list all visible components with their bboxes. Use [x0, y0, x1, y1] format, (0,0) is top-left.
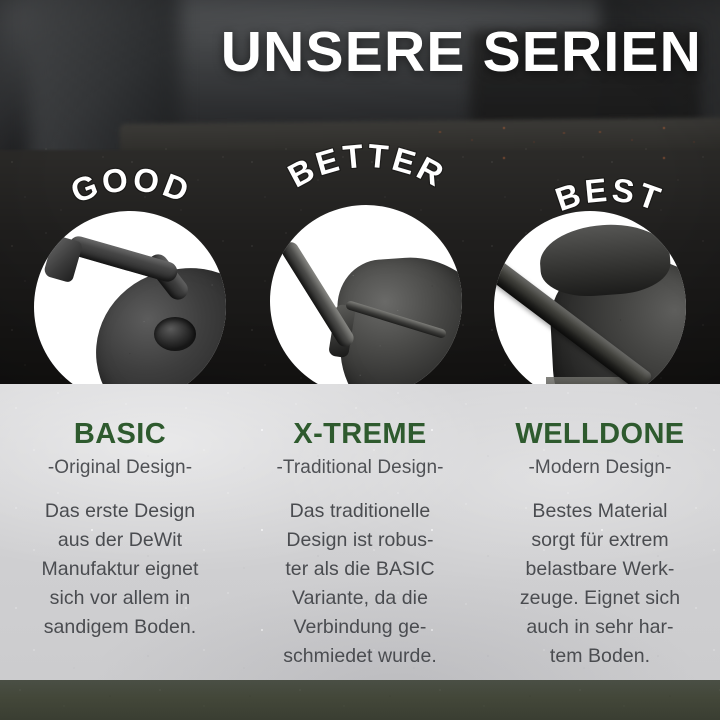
- basic-tool-illustration: [34, 211, 226, 403]
- product-subtitle-basic: -Original Design-: [12, 457, 228, 479]
- product-name-welldone: WELLDONE: [492, 418, 708, 450]
- product-description-basic: Das erste Design aus der DeWit Manufaktu…: [12, 497, 228, 642]
- svg-text:GOOD: GOOD: [66, 160, 197, 210]
- product-column-basic: BASIC -Original Design- Das erste Design…: [0, 384, 240, 720]
- product-description-xtreme: Das traditionelle Design ist robus- ter …: [252, 497, 468, 671]
- product-column-xtreme: X-TREME -Traditional Design- Das traditi…: [240, 384, 480, 720]
- product-name-basic: BASIC: [12, 418, 228, 450]
- socket-joint: [154, 317, 196, 351]
- product-image-welldone: [494, 211, 686, 403]
- badge-label-good-text: GOOD: [66, 160, 197, 210]
- product-name-xtreme: X-TREME: [252, 418, 468, 450]
- product-description-welldone: Bestes Material sorgt für extrem belastb…: [492, 497, 708, 671]
- page-title: UNSERE SERIEN: [0, 20, 720, 84]
- product-image-basic: [34, 211, 226, 403]
- product-image-xtreme: [270, 205, 462, 397]
- product-subtitle-xtreme: -Traditional Design-: [252, 457, 468, 479]
- product-columns: BASIC -Original Design- Das erste Design…: [0, 384, 720, 720]
- welldone-tool-illustration: [494, 211, 686, 403]
- product-column-welldone: WELLDONE -Modern Design- Bestes Material…: [480, 384, 720, 720]
- xtreme-tool-illustration: [270, 205, 462, 397]
- tang-upper: [66, 234, 179, 284]
- product-subtitle-welldone: -Modern Design-: [492, 457, 708, 479]
- ferrule-cap: [43, 235, 83, 284]
- product-series-poster: UNSERE SERIEN GOOD BETTER BEST: [0, 0, 720, 720]
